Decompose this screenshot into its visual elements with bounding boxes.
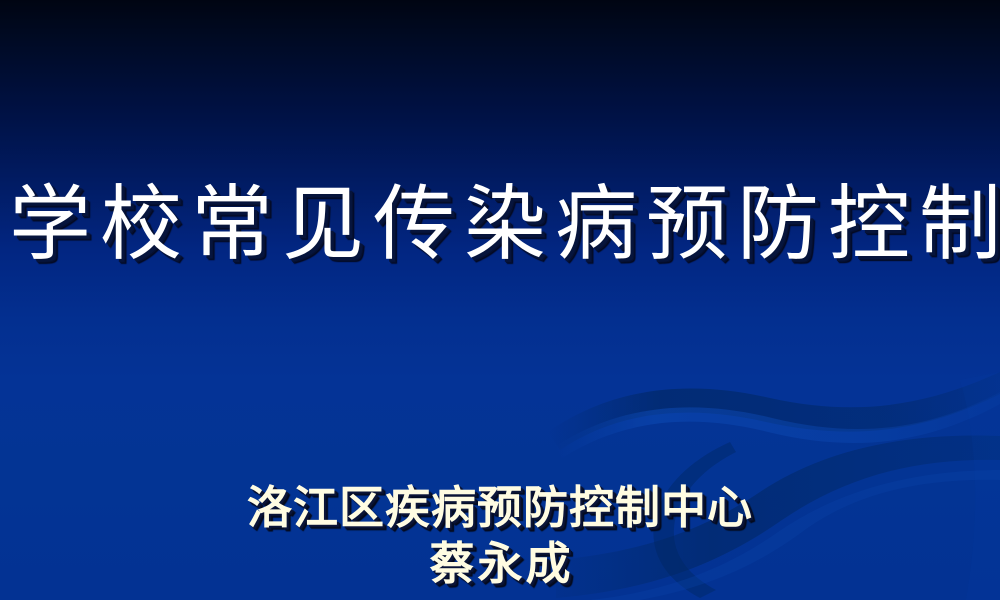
slide-subtitle: 洛江区疾病预防控制中心 蔡永成 — [0, 480, 1000, 592]
slide-title: 学校常见传染病预防控制 — [0, 178, 1000, 272]
swirl-band-upper-highlight — [556, 392, 1000, 458]
swirl-band-upper — [548, 372, 1000, 450]
subtitle-author: 蔡永成 — [0, 536, 1000, 592]
subtitle-organization: 洛江区疾病预防控制中心 — [0, 480, 1000, 536]
presentation-slide: 学校常见传染病预防控制 洛江区疾病预防控制中心 蔡永成 — [0, 0, 1000, 600]
slide-title-text: 学校常见传染病预防控制 — [0, 178, 1000, 272]
